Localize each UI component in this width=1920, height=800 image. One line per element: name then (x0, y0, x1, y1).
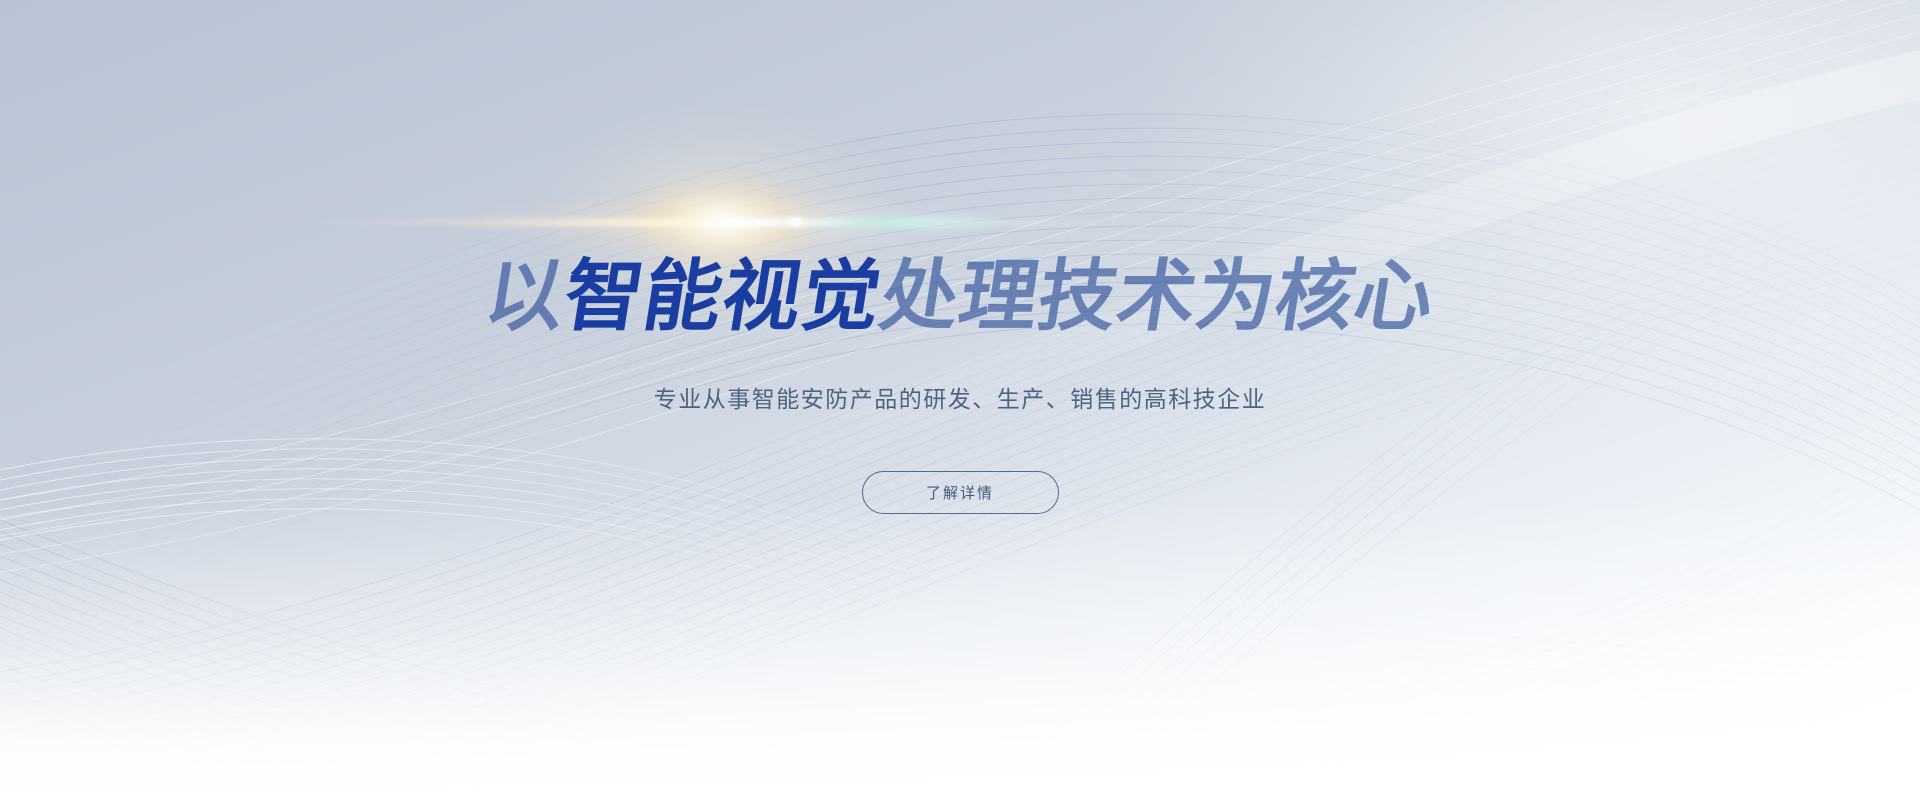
hero-banner: 以智能视觉处理技术为核心 专业从事智能安防产品的研发、生产、销售的高科技企业 了… (0, 0, 1920, 800)
hero-content: 以智能视觉处理技术为核心 专业从事智能安防产品的研发、生产、销售的高科技企业 了… (0, 0, 1920, 800)
title-segment-lead: 以 (479, 252, 572, 342)
title-segment-highlight: 智能视觉 (558, 252, 888, 342)
title-segment-tail: 处理技术为核心 (874, 252, 1441, 342)
page-subtitle: 专业从事智能安防产品的研发、生产、销售的高科技企业 (654, 383, 1267, 415)
page-title: 以智能视觉处理技术为核心 (480, 258, 1440, 336)
learn-more-button[interactable]: 了解详情 (862, 471, 1059, 514)
